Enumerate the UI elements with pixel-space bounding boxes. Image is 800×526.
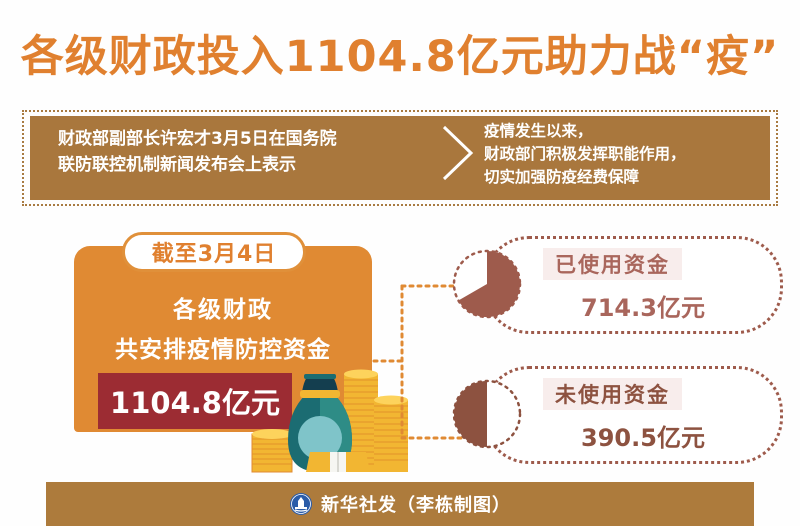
banner-right-line-1: 疫情发生以来， bbox=[484, 120, 784, 143]
footer-bar: 新华社发（李栋制图） bbox=[46, 482, 754, 526]
banner-left-line-1: 财政部副部长许宏才3月5日在国务院 bbox=[58, 126, 428, 152]
chevron-right-icon bbox=[440, 124, 476, 182]
coin-stack-left bbox=[252, 429, 292, 472]
gold-bars bbox=[306, 452, 370, 472]
unused-funds-value: 390.5亿元 bbox=[533, 418, 753, 453]
footer-credit-text: 新华社发（李栋制图） bbox=[321, 491, 511, 517]
card-line-1: 各级财政 bbox=[74, 290, 372, 324]
as-of-date-badge: 截至3月4日 bbox=[122, 232, 306, 272]
infographic-canvas: 各级财政投入1104.8亿元助力战“疫” 财政部副部长许宏才3月5日在国务院 联… bbox=[0, 0, 800, 526]
quote-banner: 财政部副部长许宏才3月5日在国务院 联防联控机制新闻发布会上表示 疫情发生以来，… bbox=[22, 110, 778, 206]
xinhua-logo-icon bbox=[289, 492, 313, 516]
unused-funds-label: 未使用资金 bbox=[543, 378, 682, 410]
footer-content: 新华社发（李栋制图） bbox=[46, 482, 754, 526]
banner-right-line-2: 财政部门积极发挥职能作用， bbox=[484, 143, 784, 166]
banner-right-line-3: 切实加强防疫经费保障 bbox=[484, 166, 784, 189]
used-funds-label: 已使用资金 bbox=[543, 248, 682, 280]
used-funds-value: 714.3亿元 bbox=[533, 288, 753, 323]
banner-left-text: 财政部副部长许宏才3月5日在国务院 联防联控机制新闻发布会上表示 bbox=[58, 126, 428, 178]
banner-right-text: 疫情发生以来， 财政部门积极发挥职能作用， 切实加强防疫经费保障 bbox=[484, 120, 784, 189]
unused-funds-pie-chart bbox=[451, 378, 523, 450]
used-funds-pie-chart bbox=[451, 248, 523, 320]
page-title: 各级财政投入1104.8亿元助力战“疫” bbox=[0, 22, 800, 84]
banner-left-line-2: 联防联控机制新闻发布会上表示 bbox=[58, 152, 428, 178]
